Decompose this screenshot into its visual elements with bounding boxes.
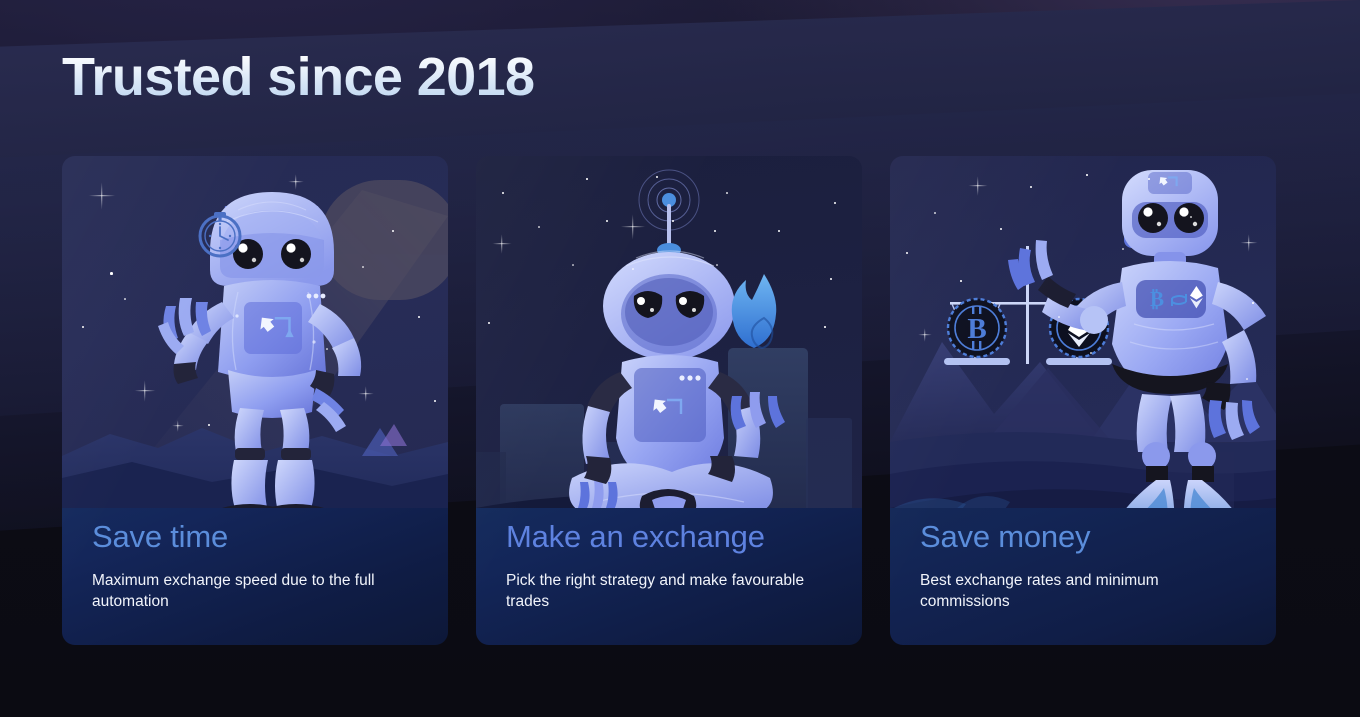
feature-card-make-an-exchange[interactable]: Make an exchange Pick the right strategy… <box>476 156 862 645</box>
star-dot <box>434 400 436 402</box>
star-dot <box>488 322 490 324</box>
star-dot <box>716 264 718 266</box>
robot-with-stopwatch-illustration <box>62 156 448 508</box>
star-dot <box>906 252 908 254</box>
star-dot <box>834 202 836 204</box>
star-sparkle <box>968 176 988 196</box>
star-dot <box>778 230 780 232</box>
svg-text:₿: ₿ <box>1150 287 1164 311</box>
robot-with-scales-illustration: B <box>890 156 1276 508</box>
star-dot <box>830 278 832 280</box>
star-sparkle <box>492 234 512 254</box>
card-illustration-save-time <box>62 156 448 508</box>
flame-icon <box>732 274 776 348</box>
star-dot <box>110 272 113 275</box>
card-title: Save time <box>92 519 228 555</box>
star-sparkle <box>134 380 156 402</box>
star-dot <box>1148 178 1150 180</box>
svg-text:B: B <box>967 313 986 345</box>
star-dot <box>1246 378 1248 380</box>
star-dot <box>1252 302 1254 304</box>
star-dot <box>586 178 588 180</box>
star-dot <box>606 220 608 222</box>
meditating-robot-illustration <box>476 156 862 508</box>
star-sparkle <box>288 174 304 190</box>
feature-card-save-money[interactable]: B <box>890 156 1276 645</box>
star-sparkle <box>1240 234 1258 252</box>
star-dot <box>362 266 364 268</box>
star-sparkle <box>620 214 646 240</box>
star-dot <box>82 326 84 328</box>
card-title: Save money <box>920 519 1090 555</box>
star-dot <box>1090 352 1092 354</box>
star-dot <box>672 220 674 222</box>
card-description: Pick the right strategy and make favoura… <box>506 570 836 612</box>
star-dot <box>572 264 574 266</box>
star-dot <box>124 298 126 300</box>
card-illustration-make-an-exchange <box>476 156 862 508</box>
feature-card-save-time[interactable]: Save time Maximum exchange speed due to … <box>62 156 448 645</box>
star-dot <box>824 326 826 328</box>
bitcoin-coin-icon: B <box>948 299 1006 357</box>
star-dot <box>1122 248 1124 250</box>
star-dot <box>960 280 962 282</box>
star-sparkle <box>88 182 116 210</box>
star-dot <box>1190 216 1192 218</box>
star-sparkle <box>918 328 932 342</box>
star-dot <box>326 348 328 350</box>
star-dot <box>1086 174 1088 176</box>
star-dot <box>418 316 420 318</box>
feature-card-list: Save time Maximum exchange speed due to … <box>62 156 1277 645</box>
card-description: Best exchange rates and minimum commissi… <box>920 570 1250 612</box>
card-title: Make an exchange <box>506 519 765 555</box>
star-dot <box>1058 316 1060 318</box>
star-dot <box>538 226 540 228</box>
star-sparkle <box>358 386 374 402</box>
page-title: Trusted since 2018 <box>62 48 534 107</box>
star-dot <box>632 268 634 270</box>
star-dot <box>726 192 728 194</box>
card-description: Maximum exchange speed due to the full a… <box>92 570 422 612</box>
card-illustration-save-money: B <box>890 156 1276 508</box>
landing-page-section: Trusted since 2018 <box>0 0 1360 717</box>
star-sparkle <box>172 420 184 432</box>
star-dot <box>934 212 936 214</box>
